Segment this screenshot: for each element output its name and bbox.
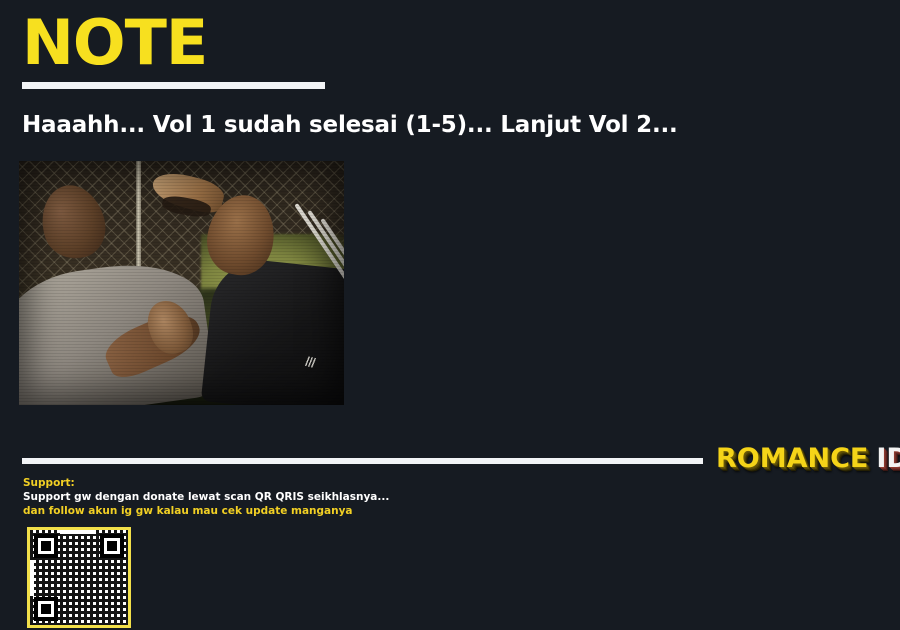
meme-image: [19, 161, 344, 405]
qr-code[interactable]: [27, 527, 131, 628]
note-page: NOTE Haaahh... Vol 1 sudah selesai (1-5)…: [0, 0, 900, 630]
support-label: Support:: [23, 476, 443, 490]
brand-logo: ROMANCE ID: [716, 444, 900, 474]
qr-quiet-zone-top: [60, 530, 96, 534]
qr-finder-top-left: [34, 534, 58, 558]
footer-divider: [22, 458, 703, 464]
brand-logo-primary: ROMANCE: [716, 444, 868, 474]
qr-finder-top-right: [100, 534, 124, 558]
meme-canvas: [19, 161, 344, 405]
support-block: Support: Support gw dengan donate lewat …: [23, 476, 443, 518]
page-title: NOTE: [22, 12, 207, 74]
support-donation-text: Support gw dengan donate lewat scan QR Q…: [23, 490, 443, 504]
qr-code-field: [30, 530, 128, 625]
qr-finder-bottom-left: [34, 597, 58, 621]
qr-quiet-zone-left: [30, 560, 34, 596]
title-divider: [22, 82, 325, 89]
image-vignette: [19, 161, 344, 405]
support-follow-text: dan follow akun ig gw kalau mau cek upda…: [23, 504, 443, 518]
note-headline: Haaahh... Vol 1 sudah selesai (1-5)... L…: [22, 110, 678, 140]
brand-logo-secondary: ID: [876, 444, 900, 474]
